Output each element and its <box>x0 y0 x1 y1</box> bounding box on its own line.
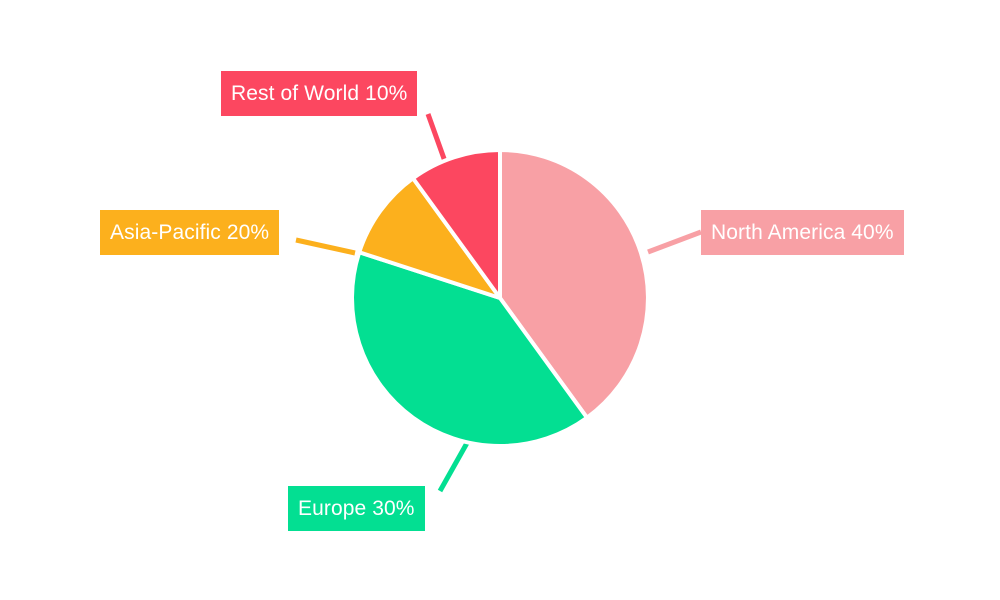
pie-label-asia-pacific[interactable]: Asia-Pacific 20% <box>100 210 279 255</box>
pie-label-north-america-text: North America 40% <box>711 222 894 243</box>
pie-label-rest-of-world[interactable]: Rest of World 10% <box>221 71 417 116</box>
pie-chart-figure <box>0 0 1000 600</box>
leader-line-europe <box>440 443 467 491</box>
pie-label-rest-of-world-text: Rest of World 10% <box>231 83 407 104</box>
pie-label-north-america[interactable]: North America 40% <box>701 210 904 255</box>
chart-canvas: North America 40% Europe 30% Asia-Pacifi… <box>0 0 1000 600</box>
pie-label-asia-pacific-text: Asia-Pacific 20% <box>110 222 269 243</box>
pie-label-europe-text: Europe 30% <box>298 498 415 519</box>
pie-label-europe[interactable]: Europe 30% <box>288 486 425 531</box>
pie-slices <box>352 150 648 446</box>
leader-line-north-america <box>648 232 701 252</box>
leader-line-asia-pacific <box>296 240 355 253</box>
